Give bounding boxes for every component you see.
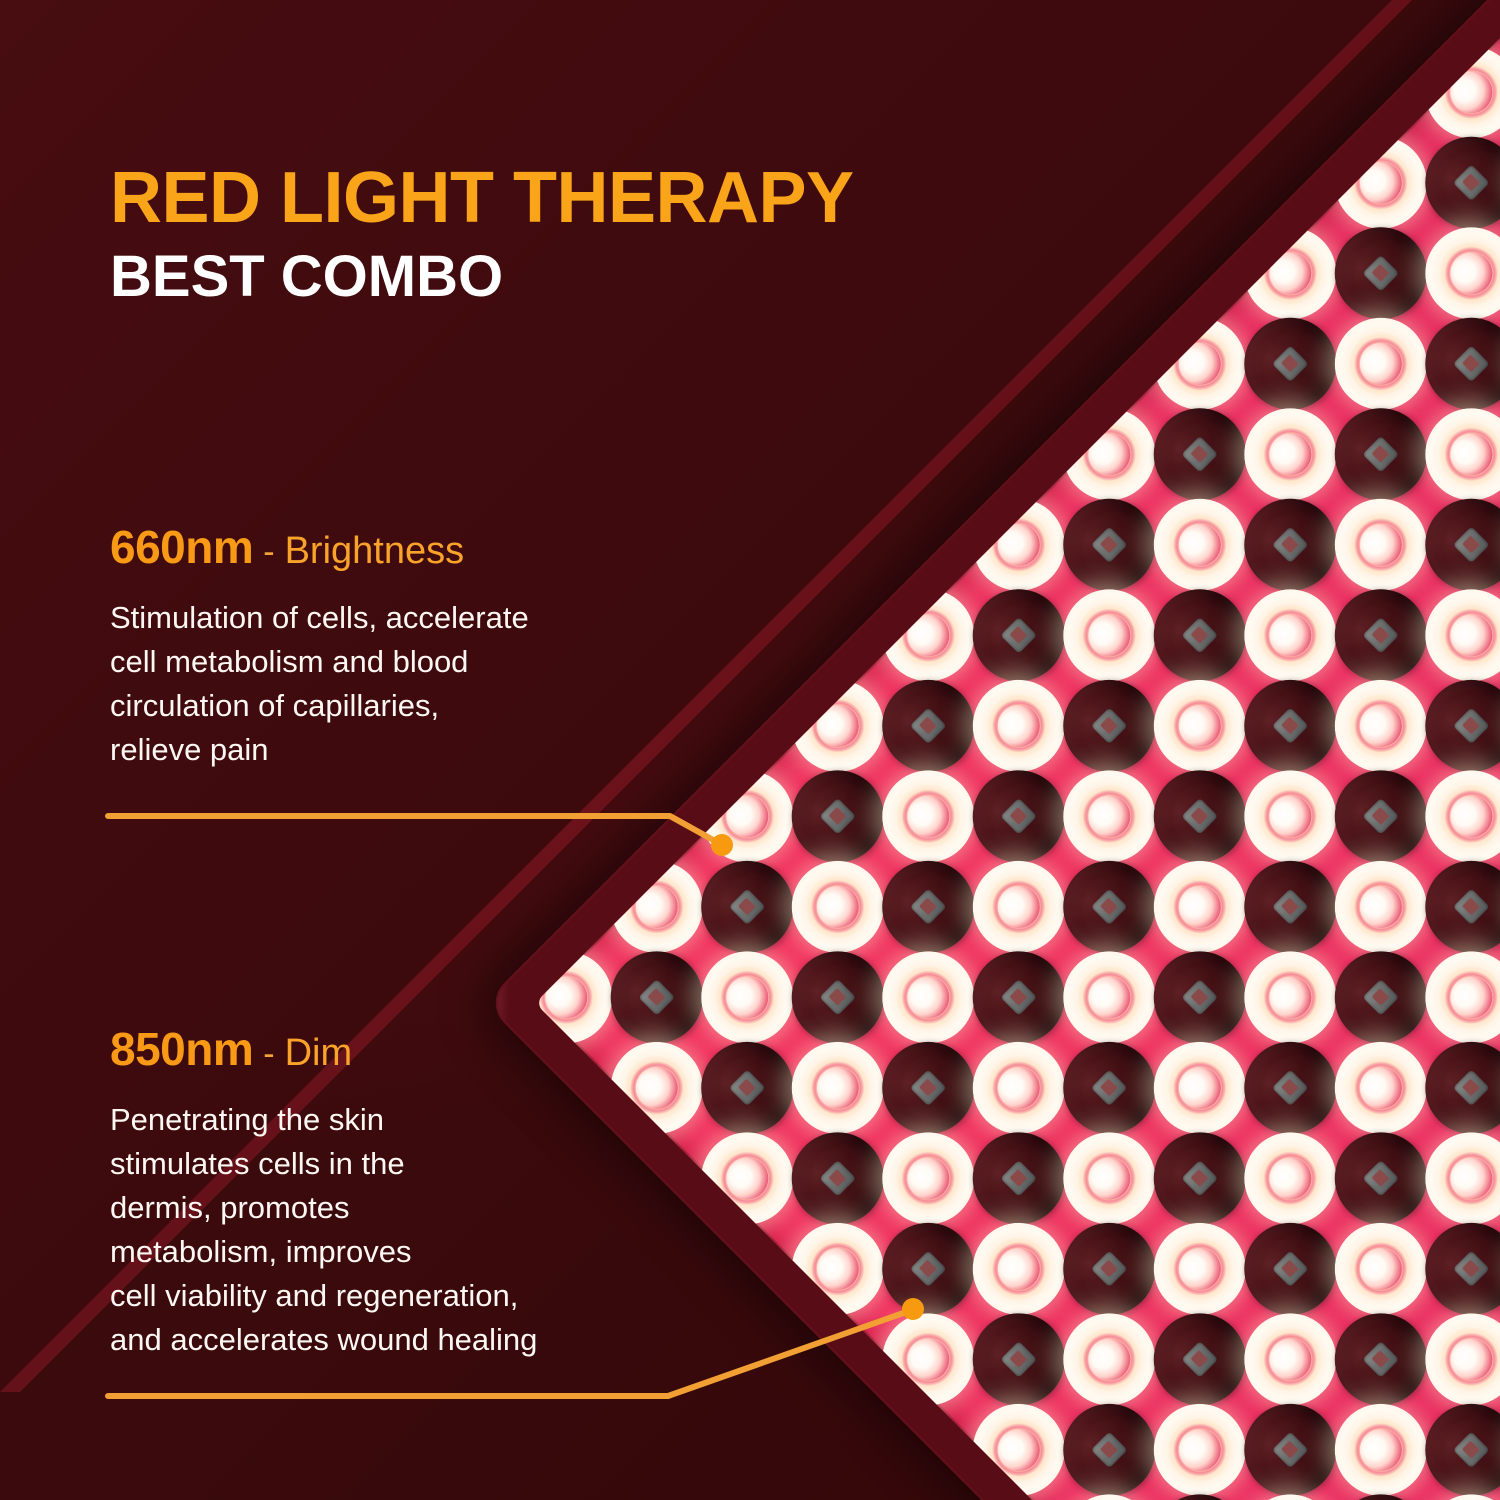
spec-850nm-dash: -	[263, 1035, 274, 1074]
spec-660nm-heading: 660nm - Brightness	[110, 520, 529, 574]
spec-850nm-wavelength: 850nm	[110, 1022, 253, 1076]
title-block: RED LIGHT THERAPY BEST COMBO	[110, 162, 854, 306]
text-content: RED LIGHT THERAPY BEST COMBO 660nm - Bri…	[0, 0, 1500, 1500]
infographic-canvas: RED LIGHT THERAPY BEST COMBO 660nm - Bri…	[0, 0, 1500, 1500]
spec-660nm: 660nm - Brightness Stimulation of cells,…	[110, 520, 529, 772]
spec-850nm-mode: Dim	[285, 1032, 353, 1075]
spec-850nm: 850nm - Dim Penetrating the skin stimula…	[110, 1022, 537, 1362]
spec-660nm-mode: Brightness	[285, 530, 465, 573]
spec-660nm-dash: -	[263, 533, 274, 572]
page-subtitle: BEST COMBO	[110, 248, 854, 306]
spec-850nm-description: Penetrating the skin stimulates cells in…	[110, 1098, 537, 1362]
spec-660nm-description: Stimulation of cells, accelerate cell me…	[110, 596, 529, 772]
spec-660nm-wavelength: 660nm	[110, 520, 253, 574]
page-title: RED LIGHT THERAPY	[110, 162, 854, 234]
spec-850nm-heading: 850nm - Dim	[110, 1022, 537, 1076]
